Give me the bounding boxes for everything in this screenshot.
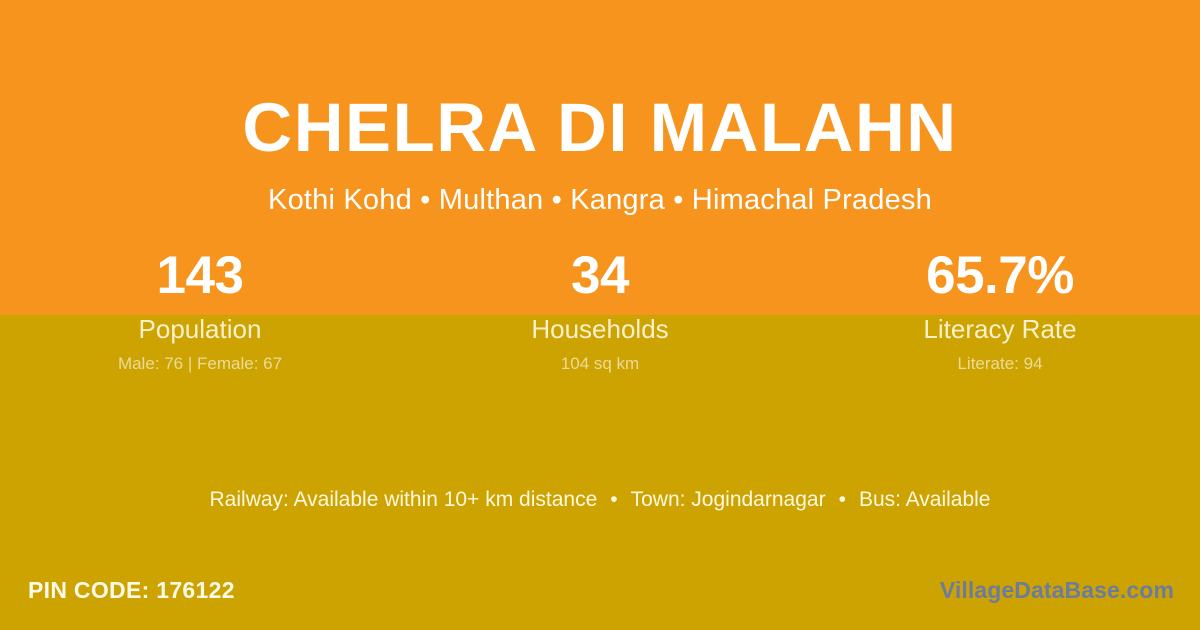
- stat-sub-households: 104 sq km: [400, 354, 800, 374]
- stat-label-households: Households: [400, 314, 800, 344]
- amenity-separator-1: •: [597, 485, 630, 515]
- amenity-separator-2: •: [826, 485, 859, 515]
- village-info-card: CHELRA DI MALAHN Kothi Kohd • Multhan • …: [0, 0, 1200, 630]
- amenity-town: Town: Jogindarnagar: [631, 488, 826, 511]
- card-footer: PIN CODE: 176122 VillageDataBase.com: [0, 572, 1200, 612]
- stat-households: 34 Households 104 sq km: [400, 244, 800, 374]
- stat-value-households: 34: [400, 244, 800, 308]
- stat-sub-literacy-rate: Literate: 94: [800, 354, 1200, 374]
- stat-value-literacy-rate: 65.7%: [800, 244, 1200, 308]
- stat-population: 143 Population Male: 76 | Female: 67: [0, 244, 400, 374]
- statistics-row: 143 Population Male: 76 | Female: 67 34 …: [0, 244, 1200, 374]
- stat-label-literacy-rate: Literacy Rate: [800, 314, 1200, 344]
- breadcrumb: Kothi Kohd • Multhan • Kangra • Himachal…: [0, 182, 1200, 218]
- page-title: CHELRA DI MALAHN: [0, 84, 1200, 172]
- stat-label-population: Population: [0, 314, 400, 344]
- pin-code-label: PIN CODE: 176122: [28, 572, 235, 608]
- amenities-line: Railway: Available within 10+ km distanc…: [0, 485, 1200, 515]
- brand-watermark: VillageDataBase.com: [940, 572, 1174, 608]
- stat-value-population: 143: [0, 244, 400, 308]
- amenity-railway: Railway: Available within 10+ km distanc…: [210, 488, 598, 511]
- amenity-bus: Bus: Available: [859, 488, 991, 511]
- stat-sub-population: Male: 76 | Female: 67: [0, 354, 400, 374]
- stat-literacy-rate: 65.7% Literacy Rate Literate: 94: [800, 244, 1200, 374]
